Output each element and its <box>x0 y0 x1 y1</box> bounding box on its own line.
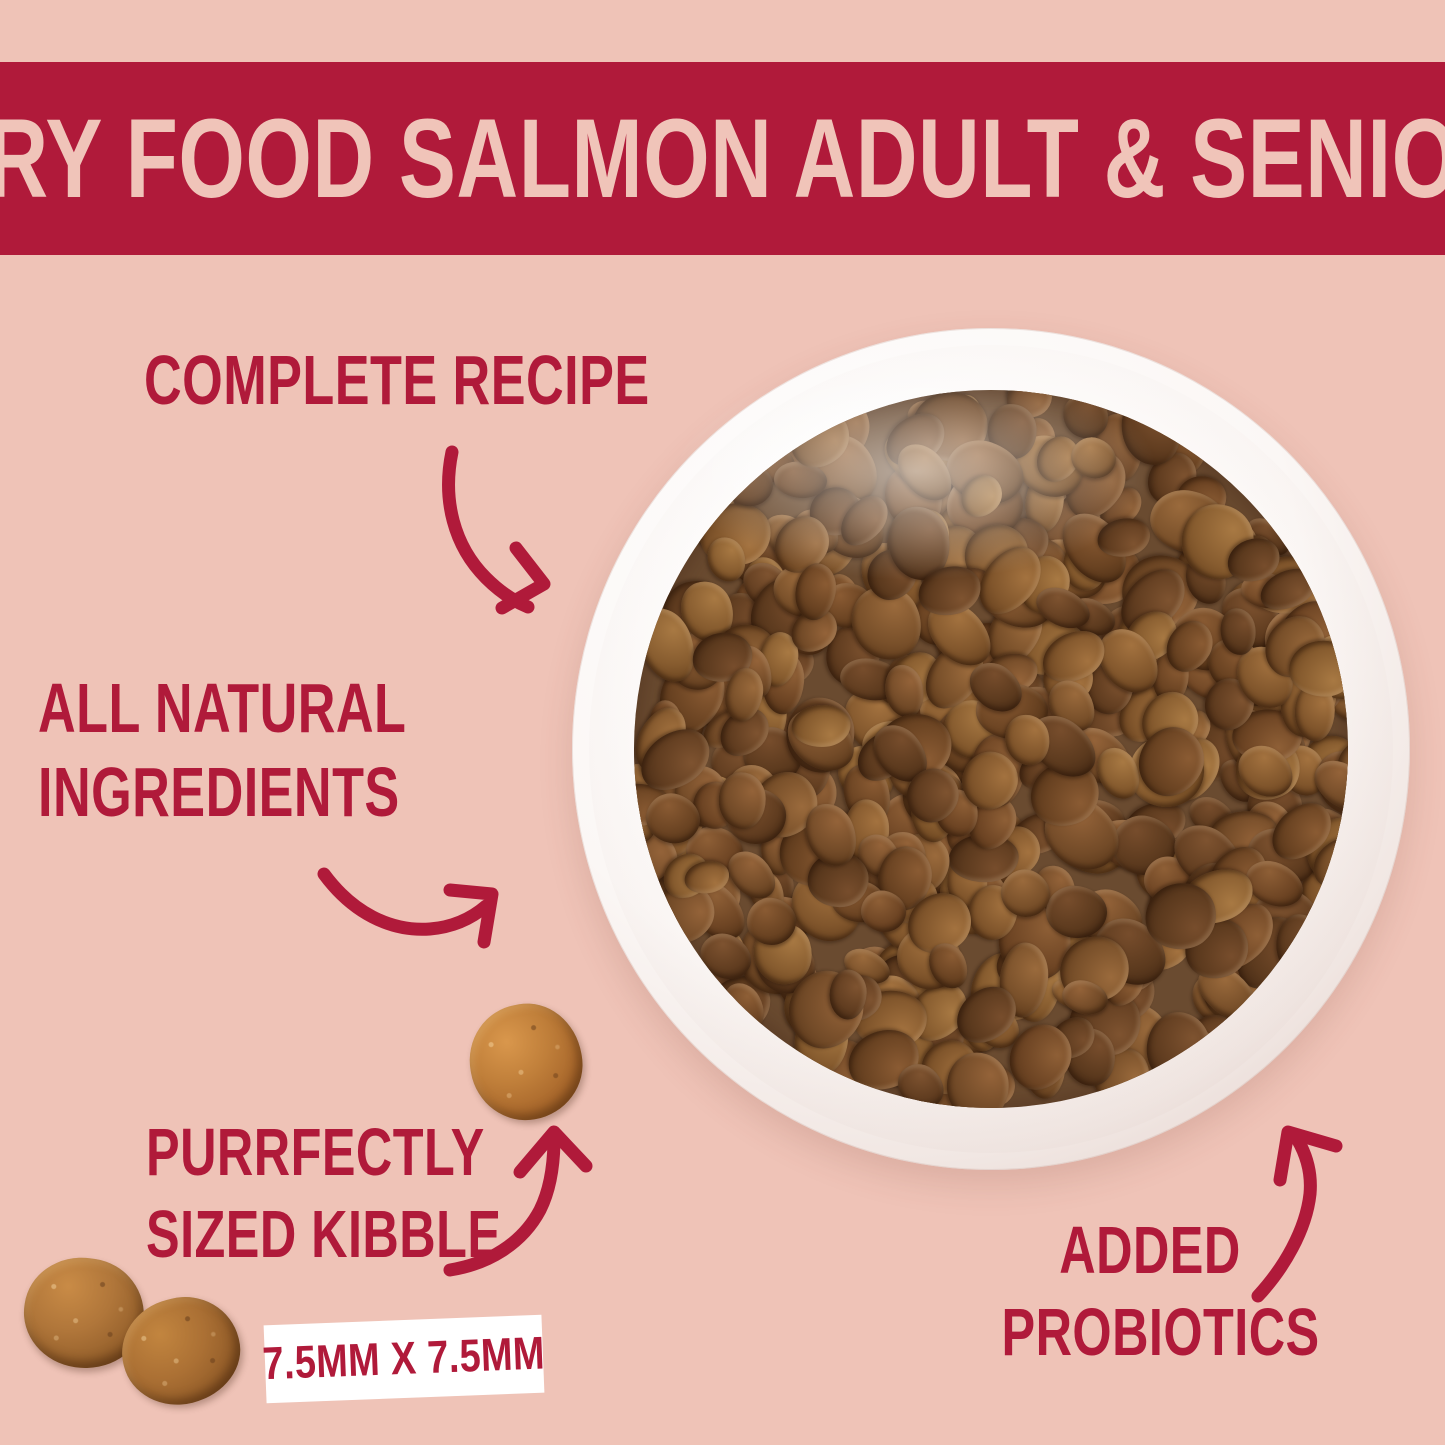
kibble-size-badge-text: 7.5MM X 7.5MM <box>262 1328 546 1391</box>
bowl-interior <box>634 390 1348 1107</box>
curved-arrow-up-right-icon <box>440 1120 604 1280</box>
feature-label-complete-recipe: COMPLETE RECIPE <box>144 352 706 410</box>
feature-label-all-natural-ingredients: ALL NATURAL INGREDIENTS <box>38 680 447 822</box>
feature-label-line: PROBIOTICS <box>1002 1298 1299 1365</box>
kibble-bowl-image <box>572 328 1410 1170</box>
kibble-piece <box>1276 914 1323 976</box>
feature-label-line: COMPLETE RECIPE <box>144 346 650 416</box>
kibble-field <box>634 390 1348 1107</box>
page-title: DRY FOOD SALMON ADULT & SENIOR <box>0 102 1445 214</box>
curved-arrow-right-up-icon <box>312 862 508 974</box>
feature-label-line: INGREDIENTS <box>38 758 406 828</box>
header-banner: DRY FOOD SALMON ADULT & SENIOR <box>0 62 1445 255</box>
feature-label-line: ALL NATURAL <box>38 674 406 744</box>
curved-arrow-up-left-icon <box>1248 1118 1384 1304</box>
product-feature-poster: DRY FOOD SALMON ADULT & SENIOR COMPLETE … <box>0 0 1445 1445</box>
kibble-size-badge: 7.5MM X 7.5MM <box>264 1315 545 1404</box>
curved-arrow-down-right-icon <box>424 438 592 618</box>
